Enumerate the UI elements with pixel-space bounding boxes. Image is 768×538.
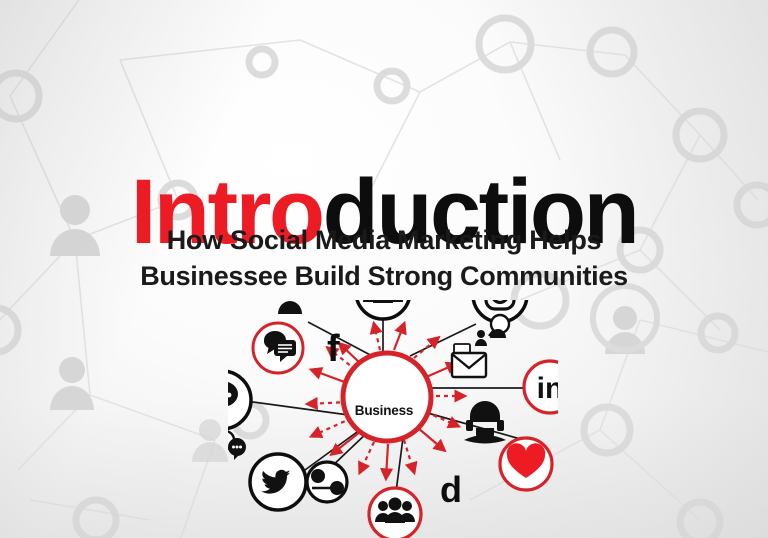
node-linkedin-icon: in	[524, 361, 558, 413]
tiktok-d-icon: d	[440, 472, 462, 508]
node-heart-icon	[500, 438, 552, 490]
hub-circle	[343, 353, 431, 441]
icon-support-agent	[464, 401, 506, 444]
facebook-f-icon: f	[327, 330, 340, 368]
node-chat-bubbles-icon	[253, 323, 303, 373]
subtitle: How Social Media Marketing Helps Busines…	[0, 223, 768, 294]
hub-label: Business	[336, 404, 432, 418]
icon-person	[278, 300, 302, 314]
hub-and-spoke-diagram: in	[228, 300, 558, 538]
icon-chat-small	[228, 431, 246, 460]
icon-email-envelope	[452, 344, 486, 377]
node-twitter-icon	[250, 454, 306, 510]
subtitle-line-2: Businessee Build Strong Communities	[0, 259, 768, 295]
node-speech-exchange-icon	[307, 462, 347, 502]
svg-text:in: in	[537, 372, 558, 405]
slide-canvas: Introduction How Social Media Marketing …	[0, 0, 768, 538]
node-chat-dots-icon	[228, 371, 251, 429]
node-group-people-bottom-icon	[369, 488, 421, 538]
subtitle-line-1: How Social Media Marketing Helps	[0, 223, 768, 259]
icon-user-search	[475, 315, 509, 346]
